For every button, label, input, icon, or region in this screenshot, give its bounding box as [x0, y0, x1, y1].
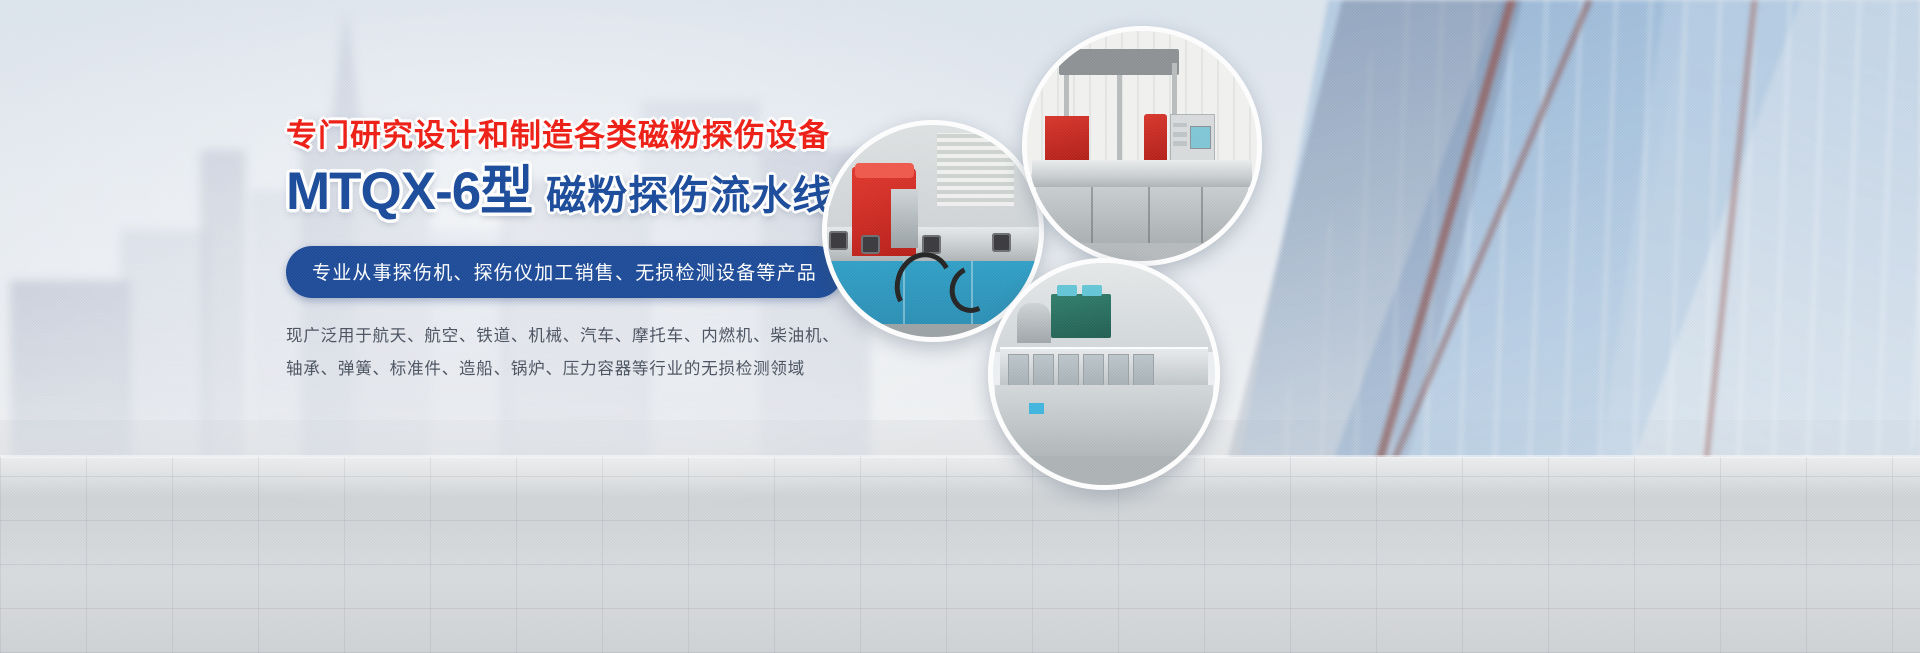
banner-copy: 专门研究设计和制造各类磁粉探伤设备 MTQX-6型 磁粉探伤流水线 专业从事探伤… — [286, 118, 806, 386]
services-pill: 专业从事探伤机、探伤仪加工销售、无损检测设备等产品 — [286, 246, 843, 298]
banner-title: MTQX-6型 磁粉探伤流水线 — [286, 165, 806, 218]
product-name: 磁粉探伤流水线 — [546, 176, 833, 216]
product-model: MTQX-6型 — [286, 165, 532, 218]
product-photo-workshop-line — [1022, 26, 1262, 266]
banner-headline: 专门研究设计和制造各类磁粉探伤设备 — [286, 118, 806, 155]
product-photo-conveyor-line — [988, 258, 1220, 490]
industries-line-2: 轴承、弹簧、标准件、造船、锅炉、压力容器等行业的无损检测领域 — [286, 353, 806, 386]
promotional-banner: 专门研究设计和制造各类磁粉探伤设备 MTQX-6型 磁粉探伤流水线 专业从事探伤… — [0, 0, 1920, 653]
industries-line-1: 现广泛用于航天、航空、铁道、机械、汽车、摩托车、内燃机、柴油机、 — [286, 320, 806, 353]
